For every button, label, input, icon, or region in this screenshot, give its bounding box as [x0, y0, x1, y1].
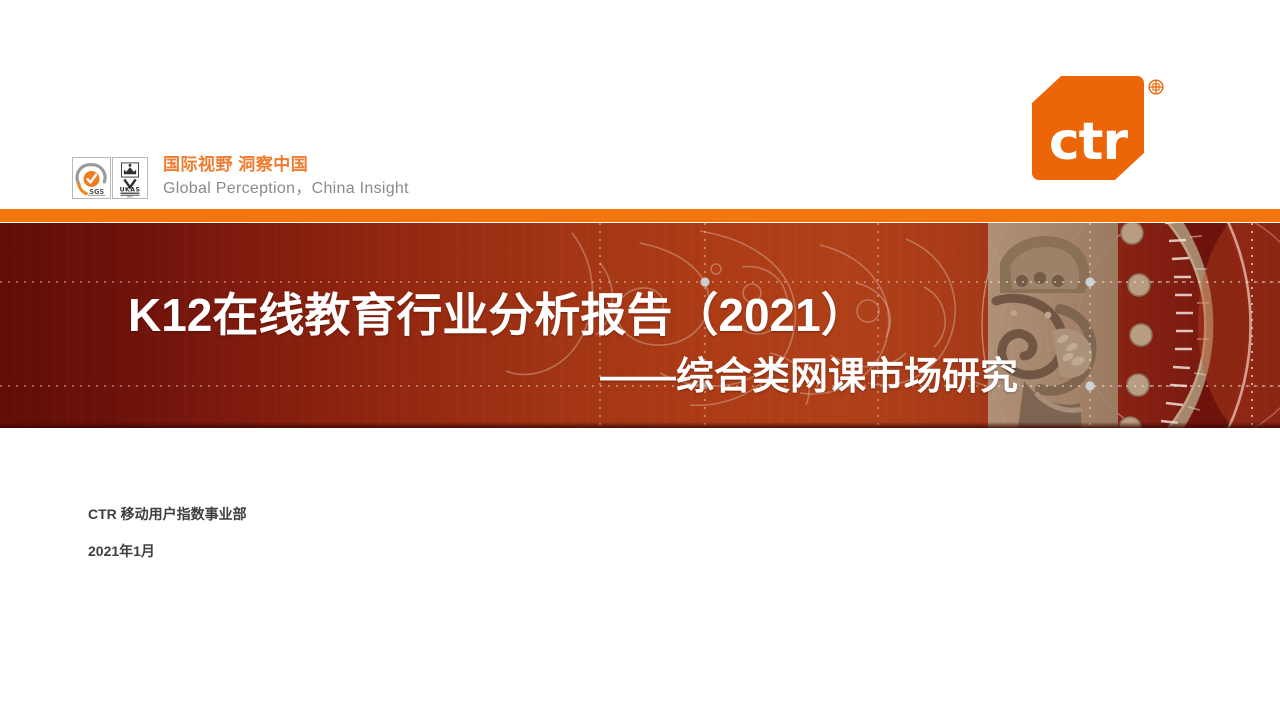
company-tagline: 国际视野 洞察中国 Global Perception，China Insigh…: [163, 152, 583, 201]
ctr-logo: ctr: [1032, 76, 1144, 180]
sgs-certification-badge: SGS: [72, 157, 111, 199]
slide-header: ctr SGS: [0, 0, 1280, 209]
orange-divider-bar: [0, 209, 1280, 222]
title-banner: [0, 223, 1280, 428]
registered-trademark-icon: [1147, 78, 1165, 96]
footer-date: 2021年1月: [88, 533, 608, 570]
cover-slide: ctr SGS: [0, 0, 1280, 720]
banner-bottom-shadow: [0, 422, 1280, 428]
slide-footer: CTR 移动用户指数事业部 2021年1月: [88, 496, 608, 570]
ctr-logo-text: ctr: [1032, 76, 1144, 180]
svg-text:001: 001: [127, 194, 133, 198]
ukas-crown-icon: UKAS 001: [113, 158, 147, 198]
certification-badges: SGS UKAS 001: [72, 157, 148, 199]
footer-department: CTR 移动用户指数事业部: [88, 496, 608, 533]
tagline-chinese: 国际视野 洞察中国: [163, 152, 583, 177]
tagline-english: Global Perception，China Insight: [163, 177, 583, 201]
ukas-certification-badge: UKAS 001: [112, 157, 148, 199]
banner-artwork: [0, 223, 1280, 428]
sgs-icon: SGS: [73, 158, 110, 198]
banner-ornament-illustration: [0, 223, 1280, 428]
